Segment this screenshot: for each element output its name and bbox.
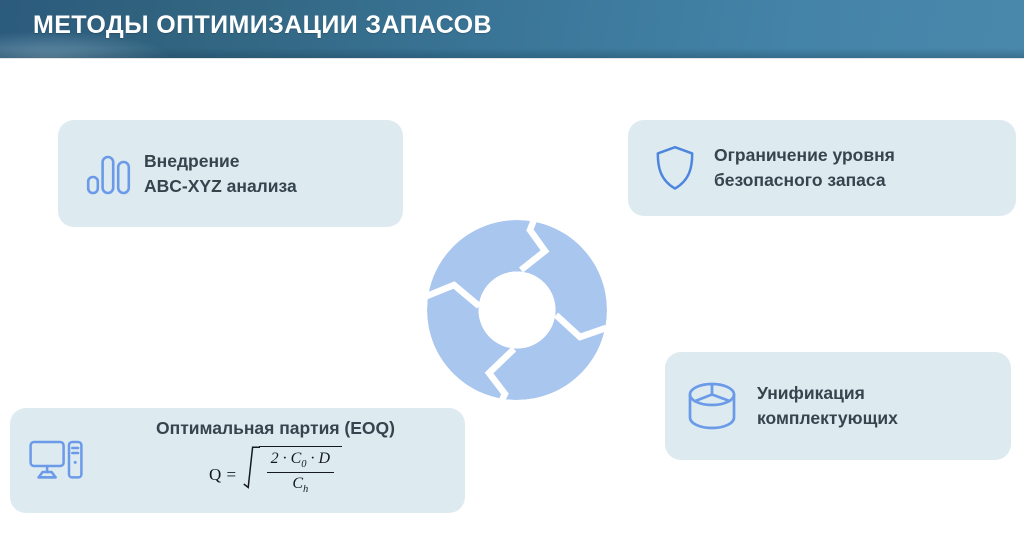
card-unification-text: Унификация комплектующих xyxy=(757,381,898,431)
card-safety-stock[interactable]: Ограничение уровня безопасного запаса xyxy=(628,120,1016,216)
card-safety-stock-line-2: безопасного запаса xyxy=(714,168,895,193)
card-eoq-title: Оптимальная партия (EOQ) xyxy=(156,418,395,439)
desktop-computer-icon xyxy=(24,437,88,485)
shield-icon xyxy=(646,144,704,192)
card-abc-xyz-line-1: Внедрение xyxy=(144,149,297,174)
eoq-formula-numerator: 2 · C0 · D xyxy=(267,449,334,472)
donut-chart xyxy=(425,218,609,402)
eoq-formula: Q = 2 · C0 · D Ch xyxy=(209,446,342,504)
eoq-formula-fraction: 2 · C0 · D Ch xyxy=(259,446,342,504)
eoq-formula-lhs: Q = xyxy=(209,465,237,485)
card-abc-xyz[interactable]: Внедрение ABC-XYZ анализа xyxy=(58,120,403,227)
page-title: МЕТОДЫ ОПТИМИЗАЦИИ ЗАПАСОВ xyxy=(33,11,492,40)
card-safety-stock-line-1: Ограничение уровня xyxy=(714,143,895,168)
card-unification-line-2: комплектующих xyxy=(757,406,898,431)
card-eoq[interactable]: Оптимальная партия (EOQ) Q = 2 · C0 · D … xyxy=(10,408,465,513)
eoq-formula-denominator: Ch xyxy=(288,473,312,496)
eoq-body: Оптимальная партия (EOQ) Q = 2 · C0 · D … xyxy=(96,418,455,504)
eoq-formula-radical: 2 · C0 · D Ch xyxy=(243,446,342,504)
card-abc-xyz-line-2: ABC-XYZ анализа xyxy=(144,174,297,199)
card-safety-stock-text: Ограничение уровня безопасного запаса xyxy=(714,143,895,193)
database-cylinder-icon xyxy=(681,379,743,433)
card-unification-line-1: Унификация xyxy=(757,381,898,406)
bar-chart-icon xyxy=(80,152,138,196)
card-abc-xyz-text: Внедрение ABC-XYZ анализа xyxy=(144,149,297,199)
header-bar: МЕТОДЫ ОПТИМИЗАЦИИ ЗАПАСОВ xyxy=(0,0,1024,58)
card-unification[interactable]: Унификация комплектующих xyxy=(665,352,1011,460)
donut-hole xyxy=(479,272,556,349)
sqrt-icon xyxy=(243,446,260,504)
